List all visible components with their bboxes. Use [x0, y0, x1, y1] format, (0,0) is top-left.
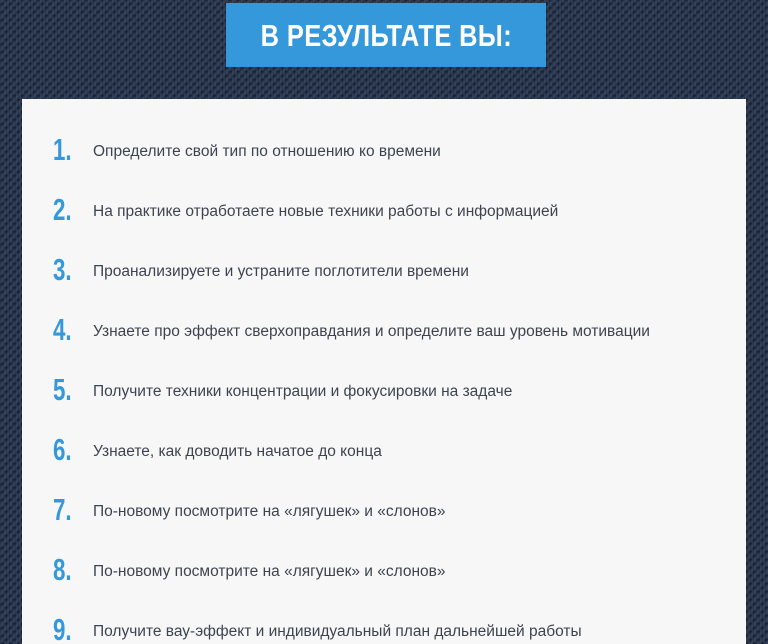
list-item-text: Получите техники концентрации и фокусиро…: [93, 377, 653, 403]
benefits-list: 1. Определите свой тип по отношению ко в…: [22, 99, 746, 644]
list-item: 6. Узнаете, как доводить начатое до конц…: [22, 437, 746, 497]
benefits-card: 1. Определите свой тип по отношению ко в…: [22, 99, 746, 644]
list-item: 4. Узнаете про эффект сверхоправдания и …: [22, 317, 746, 377]
list-item-number: 5.: [53, 377, 82, 403]
list-item-text: Узнаете, как доводить начатое до конца: [93, 437, 653, 463]
list-item-number: 8.: [53, 557, 82, 583]
list-item-number: 6.: [53, 437, 82, 463]
list-item: 1. Определите свой тип по отношению ко в…: [22, 137, 746, 197]
list-item-number: 7.: [53, 497, 82, 523]
list-item: 5. Получите техники концентрации и фокус…: [22, 377, 746, 437]
list-item: 3. Проанализируете и устраните поглотите…: [22, 257, 746, 317]
list-item-number: 1.: [53, 137, 82, 163]
header-banner: В РЕЗУЛЬТАТЕ ВЫ:: [226, 3, 546, 67]
list-item: 7. По-новому посмотрите на «лягушек» и «…: [22, 497, 746, 557]
list-item-number: 4.: [53, 317, 82, 343]
list-item-number: 2.: [53, 197, 82, 223]
list-item-text: Получите вау-эффект и индивидуальный пла…: [93, 617, 653, 643]
list-item: 2. На практике отработаете новые техники…: [22, 197, 746, 257]
list-item-number: 9.: [53, 617, 82, 643]
list-item: 9. Получите вау-эффект и индивидуальный …: [22, 617, 746, 644]
list-item-text: Проанализируете и устраните поглотители …: [93, 257, 653, 283]
list-item-text: Узнаете про эффект сверхоправдания и опр…: [93, 317, 653, 343]
page-title: В РЕЗУЛЬТАТЕ ВЫ:: [260, 20, 512, 51]
list-item-text: По-новому посмотрите на «лягушек» и «сло…: [93, 497, 653, 523]
list-item-text: На практике отработаете новые техники ра…: [93, 197, 653, 223]
list-item-number: 3.: [53, 257, 82, 283]
list-item-text: Определите свой тип по отношению ко врем…: [93, 137, 653, 163]
page-root: В РЕЗУЛЬТАТЕ ВЫ: 1. Определите свой тип …: [0, 0, 768, 644]
list-item-text: По-новому посмотрите на «лягушек» и «сло…: [93, 557, 653, 583]
list-item: 8. По-новому посмотрите на «лягушек» и «…: [22, 557, 746, 617]
